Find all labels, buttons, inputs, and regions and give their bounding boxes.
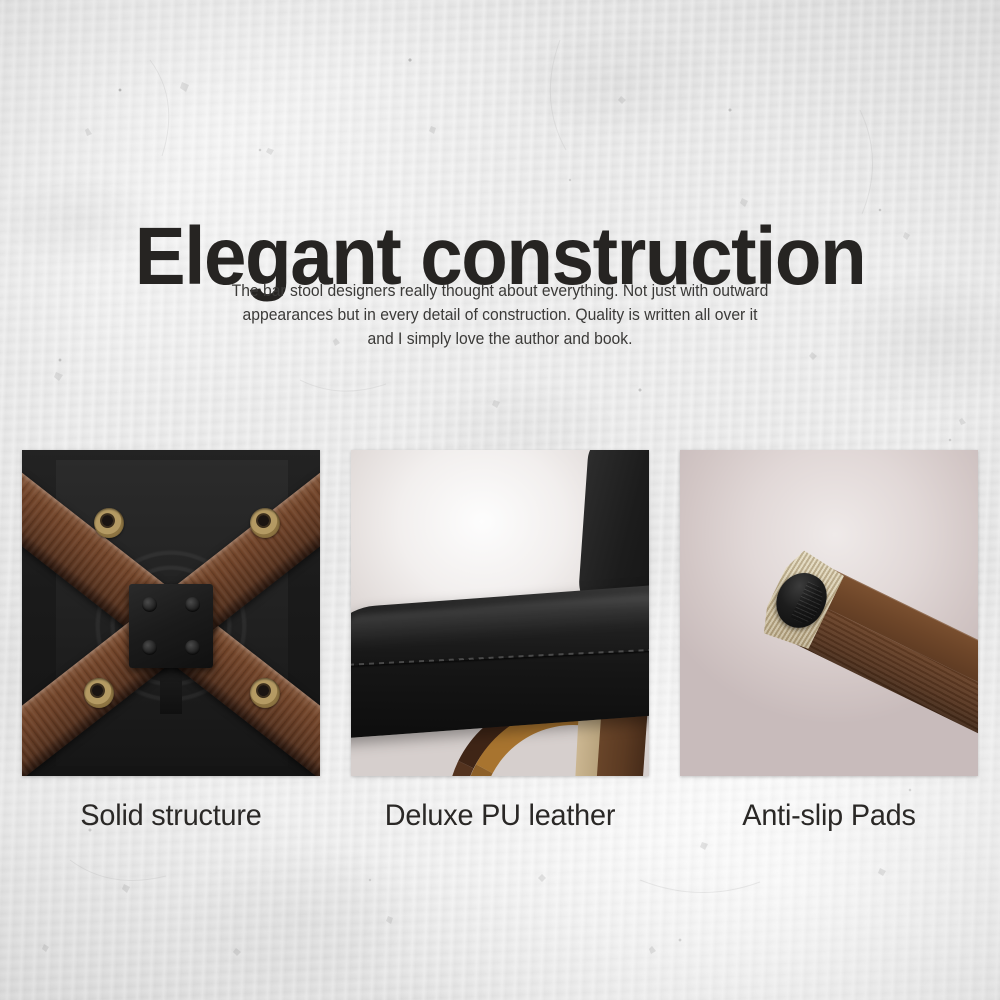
panel1-bolt xyxy=(142,640,157,655)
panel1-screw-grommet xyxy=(250,508,280,538)
page-description: The bar stool designers really thought a… xyxy=(229,279,771,351)
panel1-screw-grommet xyxy=(250,678,280,708)
caption-pu-leather: Deluxe PU leather xyxy=(357,796,643,842)
feature-image-anti-slip-pads xyxy=(680,450,978,776)
panel1-bolt xyxy=(185,640,200,655)
product-feature-poster: Elegant construction The bar stool desig… xyxy=(0,0,1000,1000)
caption-anti-slip-pads: Anti-slip Pads xyxy=(686,796,972,842)
panel1-mounting-plate xyxy=(129,584,213,668)
feature-image-row xyxy=(22,450,978,776)
feature-caption-row: Solid structure Deluxe PU leather Anti-s… xyxy=(22,796,978,842)
feature-image-solid-structure xyxy=(22,450,320,776)
panel1-bolt xyxy=(185,597,200,612)
feature-image-pu-leather xyxy=(351,450,649,776)
panel1-screw-grommet xyxy=(94,508,124,538)
panel1-bolt xyxy=(142,597,157,612)
panel1-screw-grommet xyxy=(84,678,114,708)
panel1-center-stem xyxy=(160,668,182,714)
panel2-stitch-seam xyxy=(351,647,649,666)
panel2-leather-seat xyxy=(351,583,649,740)
caption-solid-structure: Solid structure xyxy=(28,796,314,842)
